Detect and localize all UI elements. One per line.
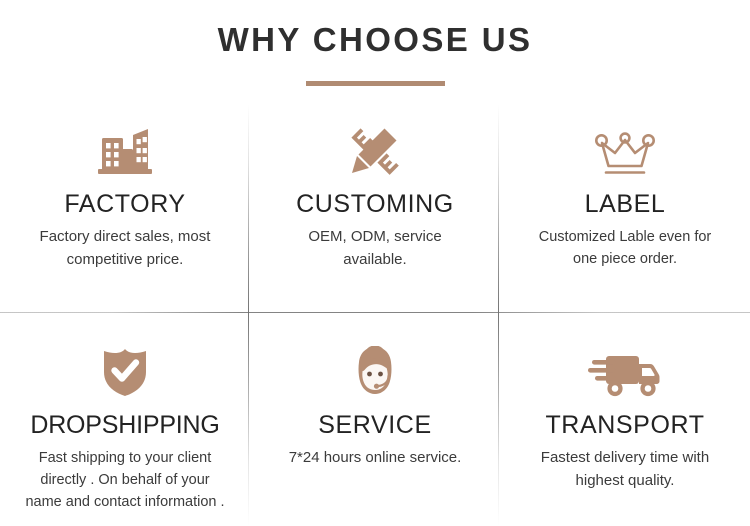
why-choose-us-section: WHY CHOOSE US [0, 0, 750, 526]
pencil-ruler-icon [348, 121, 402, 177]
feature-card-factory: FACTORY Factory direct sales, most compe… [0, 104, 250, 312]
feature-card-customing: CUSTOMING OEM, ODM, service available. [250, 104, 500, 312]
feature-card-dropshipping: DROPSHIPPING Fast shipping to your clien… [0, 312, 250, 526]
feature-title: DROPSHIPPING [30, 412, 219, 438]
feature-card-transport: TRANSPORT Fastest delivery time with hig… [500, 312, 750, 526]
section-heading: WHY CHOOSE US [0, 22, 750, 86]
delivery-truck-icon [588, 342, 662, 398]
feature-description: 7*24 hours online service. [289, 447, 462, 470]
feature-description: Fast shipping to your client directly . … [23, 447, 228, 513]
feature-description: Fastest delivery time with highest quali… [523, 447, 728, 493]
factory-building-icon [96, 121, 154, 177]
page-title: WHY CHOOSE US [0, 22, 750, 59]
feature-description: OEM, ODM, service available. [288, 226, 463, 272]
feature-description: Customized Lable even for one piece orde… [538, 226, 713, 270]
feature-title: FACTORY [64, 191, 185, 217]
features-grid: FACTORY Factory direct sales, most compe… [0, 104, 750, 526]
feature-title: SERVICE [318, 412, 432, 438]
headset-operator-icon [348, 342, 402, 398]
crown-icon [592, 121, 658, 177]
shield-check-icon [101, 342, 149, 398]
horizontal-divider [0, 312, 750, 313]
feature-title: CUSTOMING [296, 191, 454, 217]
feature-description: Factory direct sales, most competitive p… [23, 226, 228, 272]
feature-title: LABEL [585, 191, 666, 217]
feature-title: TRANSPORT [545, 412, 704, 438]
feature-card-label: LABEL Customized Lable even for one piec… [500, 104, 750, 312]
heading-underline-rule [306, 81, 445, 86]
feature-card-service: SERVICE 7*24 hours online service. [250, 312, 500, 526]
